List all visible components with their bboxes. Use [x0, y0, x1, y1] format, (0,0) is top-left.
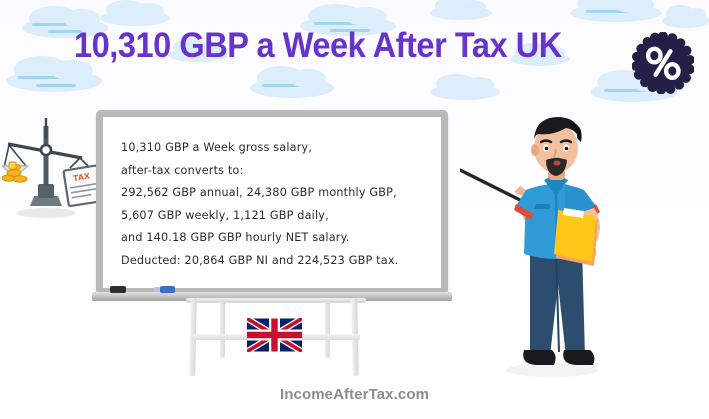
page-root: 10,310 GBP a Week After Tax UK [0, 0, 709, 419]
cloud-icon [6, 70, 102, 92]
whiteboard-text: 10,310 GBP a Week gross salary, after-ta… [121, 137, 429, 272]
percent-badge-icon [632, 32, 694, 94]
whiteboard-line: 10,310 GBP a Week gross salary, [121, 137, 429, 160]
cloud-icon [662, 14, 709, 28]
page-title: 10,310 GBP a Week After Tax UK [74, 26, 562, 66]
cloud-icon [430, 6, 492, 20]
whiteboard-line: Deducted: 20,864 GBP NI and 224,523 GBP … [121, 250, 429, 273]
teacher-character-icon [460, 108, 645, 380]
cloud-icon [100, 10, 170, 26]
cloud-icon [570, 4, 662, 22]
stand-inner-leg-left [220, 302, 225, 358]
whiteboard-line: 292,562 GBP annual, 24,380 GBP monthly G… [121, 182, 429, 205]
easel-stand [180, 298, 370, 378]
stand-inner-leg-right [325, 302, 330, 358]
blue-marker-icon [160, 286, 175, 293]
cloud-icon [250, 78, 334, 98]
whiteboard-line: and 140.18 GBP GBP hourly NET salary. [121, 227, 429, 250]
whiteboard-line: after-tax converts to: [121, 160, 429, 183]
whiteboard: 10,310 GBP a Week gross salary, after-ta… [96, 110, 448, 295]
whiteboard-line: 5,607 GBP weekly, 1,121 GBP daily, [121, 205, 429, 228]
uk-flag-icon [247, 318, 302, 352]
stand-top-bar [186, 298, 366, 303]
whiteboard-eraser-icon [110, 286, 126, 293]
site-footer: IncomeAfterTax.com [0, 386, 709, 403]
balance-scales-icon: TAX [2, 118, 106, 218]
cloud-icon [430, 84, 500, 100]
